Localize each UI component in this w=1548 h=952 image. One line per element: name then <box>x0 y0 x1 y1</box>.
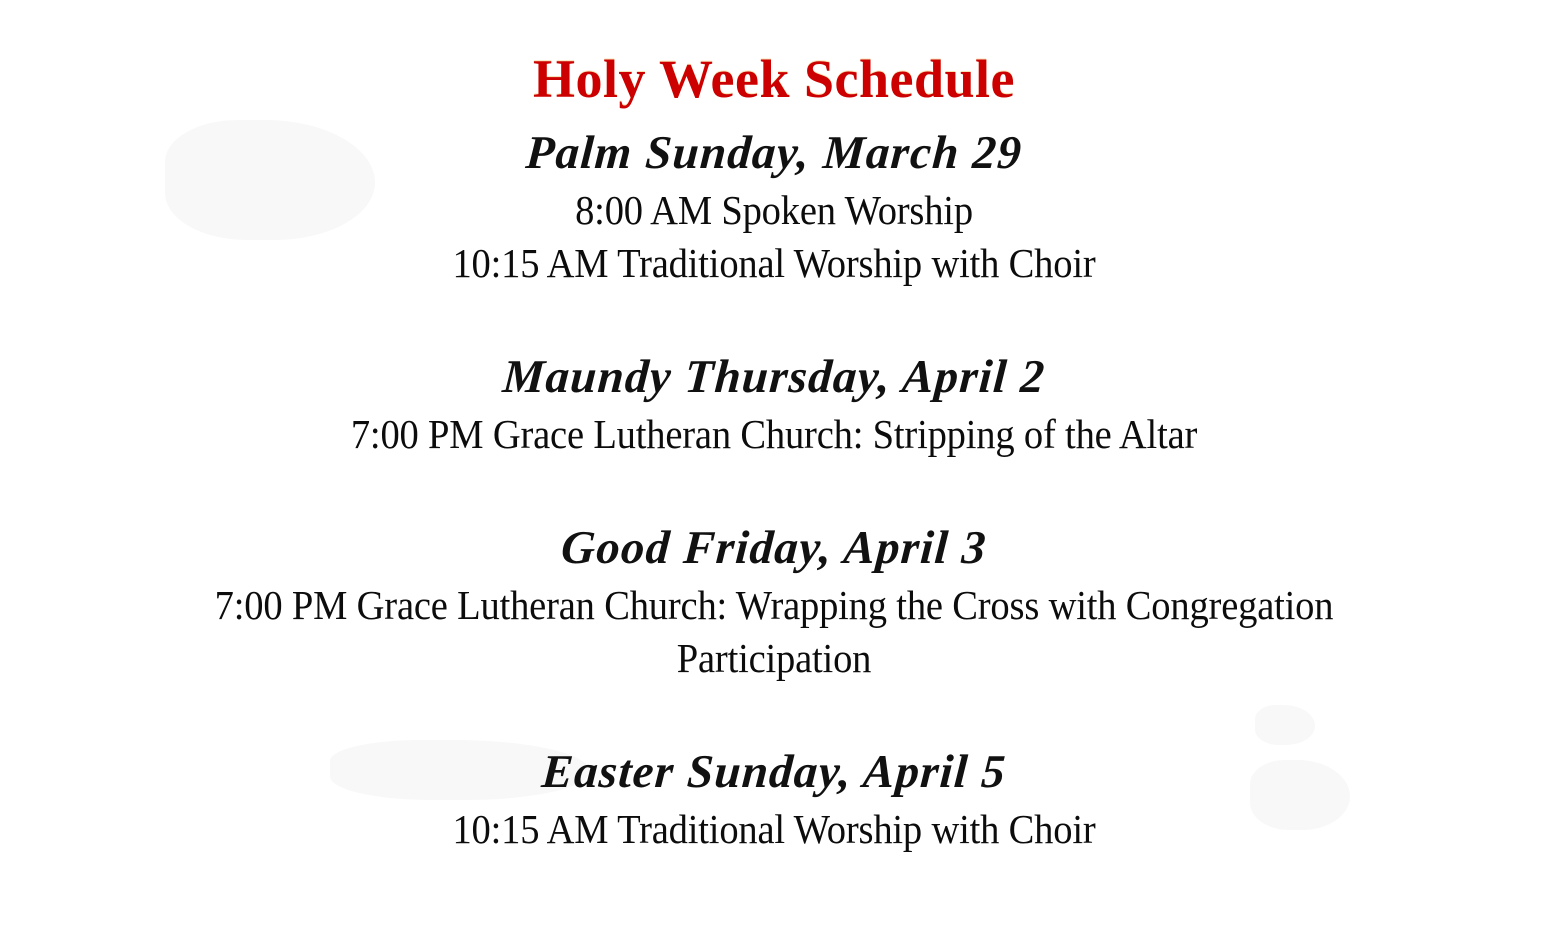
event-line: 7:00 PM Grace Lutheran Church: Stripping… <box>201 408 1348 461</box>
schedule-section-good-friday: Good Friday, April 3 7:00 PM Grace Luthe… <box>0 519 1548 685</box>
page-title: Holy Week Schedule <box>0 48 1548 110</box>
schedule-section-palm-sunday: Palm Sunday, March 29 8:00 AM Spoken Wor… <box>0 124 1548 290</box>
day-heading: Palm Sunday, March 29 <box>0 124 1548 182</box>
event-line: 8:00 AM Spoken Worship <box>191 184 1357 237</box>
schedule-document: Holy Week Schedule Palm Sunday, March 29… <box>0 0 1548 856</box>
event-line: 10:15 AM Traditional Worship with Choir <box>191 237 1357 290</box>
day-heading: Maundy Thursday, April 2 <box>0 348 1548 406</box>
scanned-page: Holy Week Schedule Palm Sunday, March 29… <box>0 0 1548 952</box>
day-heading: Easter Sunday, April 5 <box>0 743 1548 801</box>
schedule-section-easter-sunday: Easter Sunday, April 5 10:15 AM Traditio… <box>0 743 1548 856</box>
event-line: 7:00 PM Grace Lutheran Church: Wrapping … <box>201 579 1348 685</box>
event-line: 10:15 AM Traditional Worship with Choir <box>191 803 1357 856</box>
day-heading: Good Friday, April 3 <box>0 519 1548 577</box>
schedule-section-maundy-thursday: Maundy Thursday, April 2 7:00 PM Grace L… <box>0 348 1548 461</box>
